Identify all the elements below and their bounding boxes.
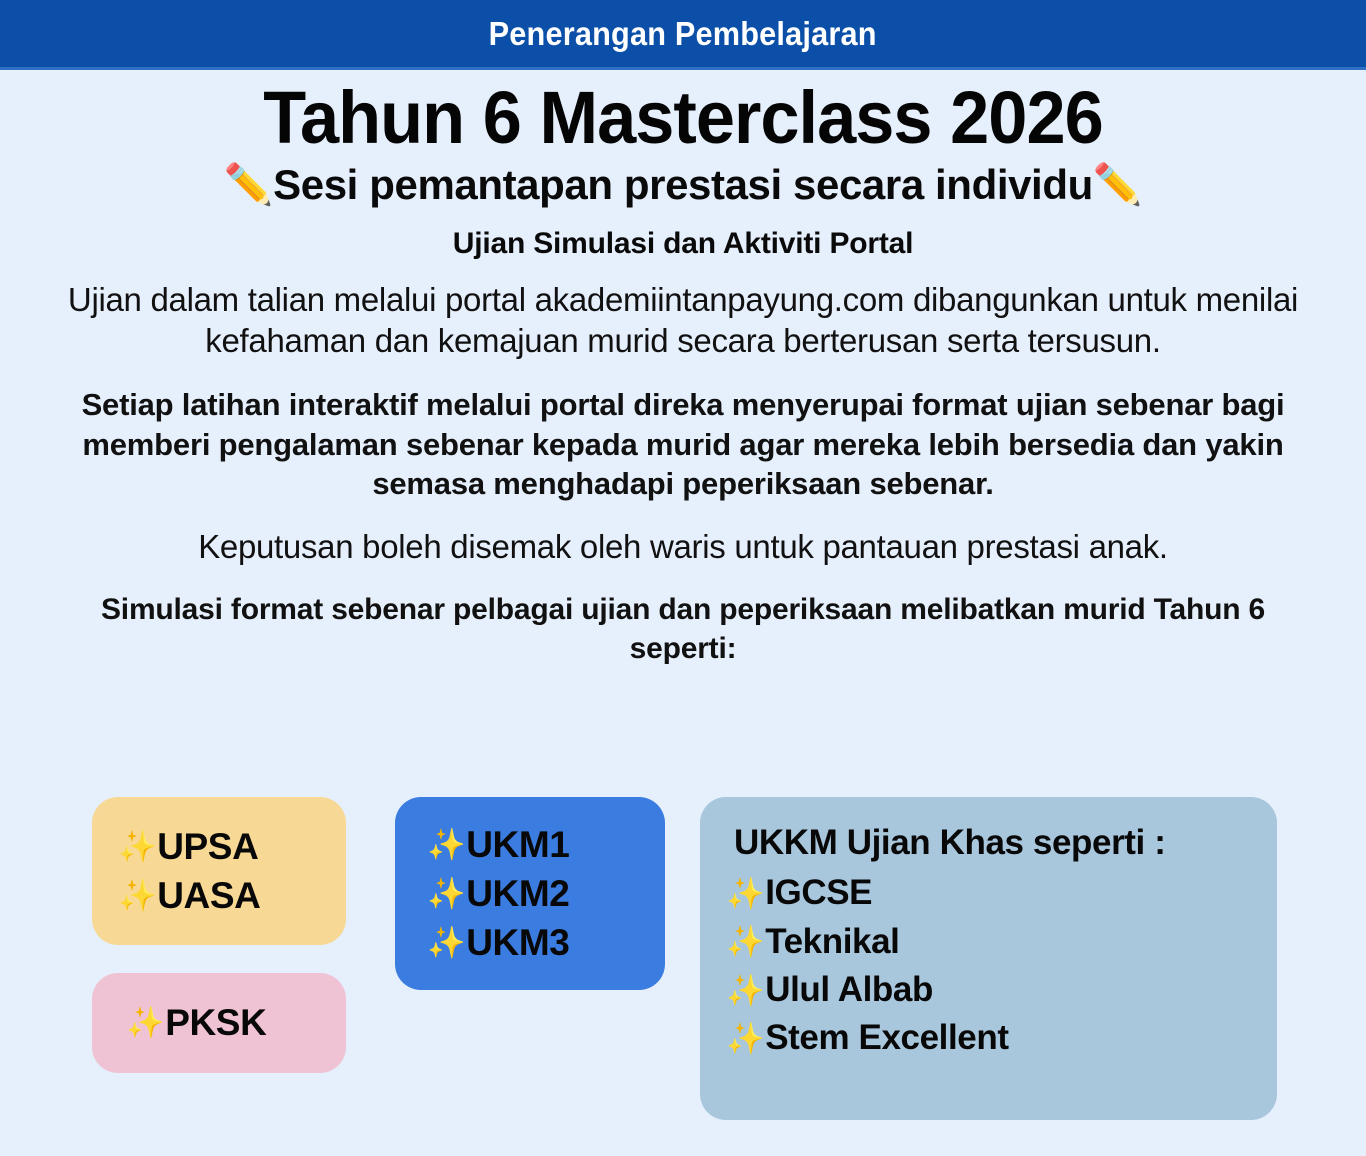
exam-item: ✨ Stem Excellent: [726, 1014, 1277, 1062]
sparkle-icon: ✨: [726, 975, 764, 1006]
exam-item-label: UASA: [157, 871, 260, 920]
pencil-icon-right: ✏️: [1093, 165, 1142, 205]
exam-item-label: UKM2: [466, 869, 569, 918]
headline-block: Tahun 6 Masterclass 2026 ✏️ Sesi pemanta…: [0, 70, 1366, 209]
section-heading: Ujian Simulasi dan Aktiviti Portal: [30, 227, 1336, 261]
paragraph-simulation-intro: Simulasi format sebenar pelbagai ujian d…: [73, 591, 1293, 668]
page-subtitle-text: Sesi pemantapan prestasi secara individu: [273, 161, 1093, 208]
sparkle-icon: ✨: [118, 831, 156, 862]
exam-item-label: UPSA: [157, 822, 258, 871]
exam-item-label: PKSK: [165, 998, 266, 1047]
sparkle-icon: ✨: [427, 829, 465, 860]
paragraph-intro: Ujian dalam talian melalui portal akadem…: [33, 279, 1333, 362]
page-title: Tahun 6 Masterclass 2026: [34, 80, 1332, 155]
paragraph-practice: Setiap latihan interaktif melalui portal…: [53, 385, 1313, 504]
exam-item: ✨ UKM2: [427, 869, 665, 918]
sparkle-icon: ✨: [126, 1007, 164, 1038]
exam-item: ✨ Ulul Albab: [726, 966, 1277, 1014]
sparkle-icon: ✨: [118, 880, 156, 911]
exam-item: ✨ PKSK: [126, 998, 346, 1047]
sparkle-icon: ✨: [427, 927, 465, 958]
exam-box-pink: ✨ PKSK: [92, 973, 346, 1073]
poster-canvas: Penerangan Pembelajaran Tahun 6 Mastercl…: [0, 0, 1366, 1156]
exam-box-steel-heading: UKKM Ujian Khas seperti :: [726, 819, 1277, 867]
banner-title: Penerangan Pembelajaran: [489, 15, 877, 53]
body-copy: Ujian Simulasi dan Aktiviti Portal Ujian…: [0, 227, 1366, 669]
exam-box-blue: ✨ UKM1 ✨ UKM2 ✨ UKM3: [395, 797, 665, 990]
sparkle-icon: ✨: [427, 878, 465, 909]
exam-item-label: IGCSE: [765, 869, 872, 917]
exam-box-yellow: ✨ UPSA ✨ UASA: [92, 797, 346, 945]
exam-item-label: UKM3: [466, 918, 569, 967]
exam-item: ✨ IGCSE: [726, 869, 1277, 917]
sparkle-icon: ✨: [726, 1023, 764, 1054]
sparkle-icon: ✨: [726, 878, 764, 909]
exam-box-steel: UKKM Ujian Khas seperti : ✨ IGCSE ✨ Tekn…: [700, 797, 1277, 1120]
paragraph-parent-check: Keputusan boleh disemak oleh waris untuk…: [33, 526, 1333, 567]
exam-item-label: Teknikal: [765, 918, 899, 966]
exam-item: ✨ UASA: [118, 871, 346, 920]
exam-item: ✨ UKM1: [427, 820, 665, 869]
exam-item: ✨ UKM3: [427, 918, 665, 967]
top-banner: Penerangan Pembelajaran: [0, 0, 1366, 70]
exam-item: ✨ Teknikal: [726, 918, 1277, 966]
exam-item-label: UKM1: [466, 820, 569, 869]
sparkle-icon: ✨: [726, 926, 764, 957]
exam-item-label: Stem Excellent: [765, 1014, 1008, 1062]
exam-boxes-group: ✨ UPSA ✨ UASA ✨ PKSK ✨ UKM1 ✨ UKM2: [0, 790, 1366, 1130]
exam-item: ✨ UPSA: [118, 822, 346, 871]
page-subtitle: ✏️ Sesi pemantapan prestasi secara indiv…: [0, 161, 1366, 208]
exam-item-label: Ulul Albab: [765, 966, 933, 1014]
pencil-icon-left: ✏️: [224, 165, 273, 205]
